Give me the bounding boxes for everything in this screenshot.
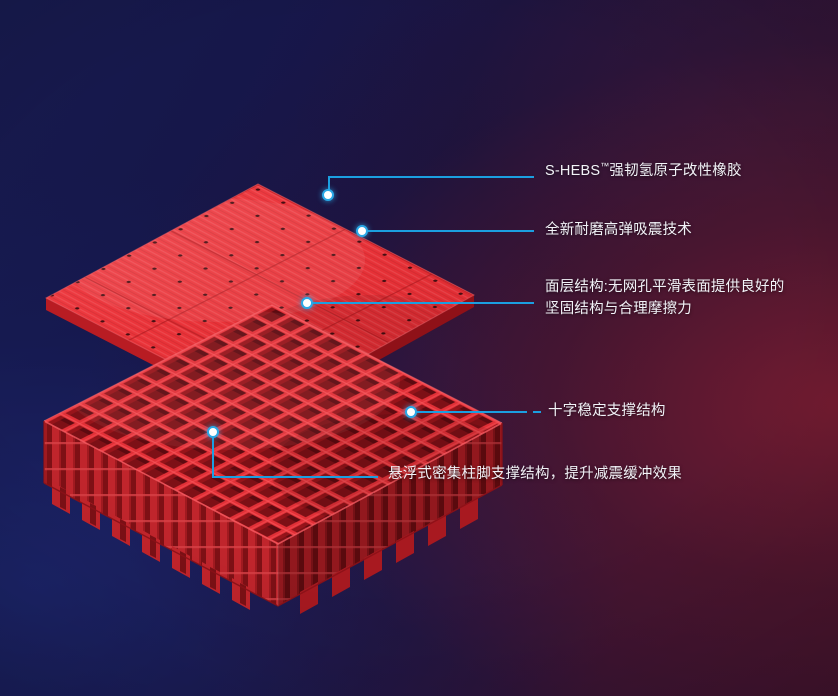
title-block: 悬浮地板 TPES强分子弹性体材料 — [0, 520, 838, 650]
callout-4-dot[interactable] — [405, 406, 417, 418]
callout-3-dot[interactable] — [301, 297, 313, 309]
callout-2-dot[interactable] — [356, 225, 368, 237]
callout-3-label: 面层结构:无网孔平滑表面提供良好的 坚固结构与合理摩擦力 — [545, 276, 784, 320]
callout-4-label: 十字稳定支撑结构 — [548, 400, 666, 422]
callout-1-label: S-HEBS™强韧氢原子改性橡胶 — [545, 160, 742, 182]
callout-5-dot[interactable] — [207, 426, 219, 438]
callout-2-label: 全新耐磨高弹吸震技术 — [545, 219, 692, 241]
callout-1-dot[interactable] — [322, 189, 334, 201]
product-illustration — [0, 130, 560, 520]
callout-5-label: 悬浮式密集柱脚支撑结构，提升减震缓冲效果 — [388, 463, 682, 485]
poster-canvas: S-HEBS™强韧氢原子改性橡胶 全新耐磨高弹吸震技术 面层结构:无网孔平滑表面… — [0, 0, 838, 696]
